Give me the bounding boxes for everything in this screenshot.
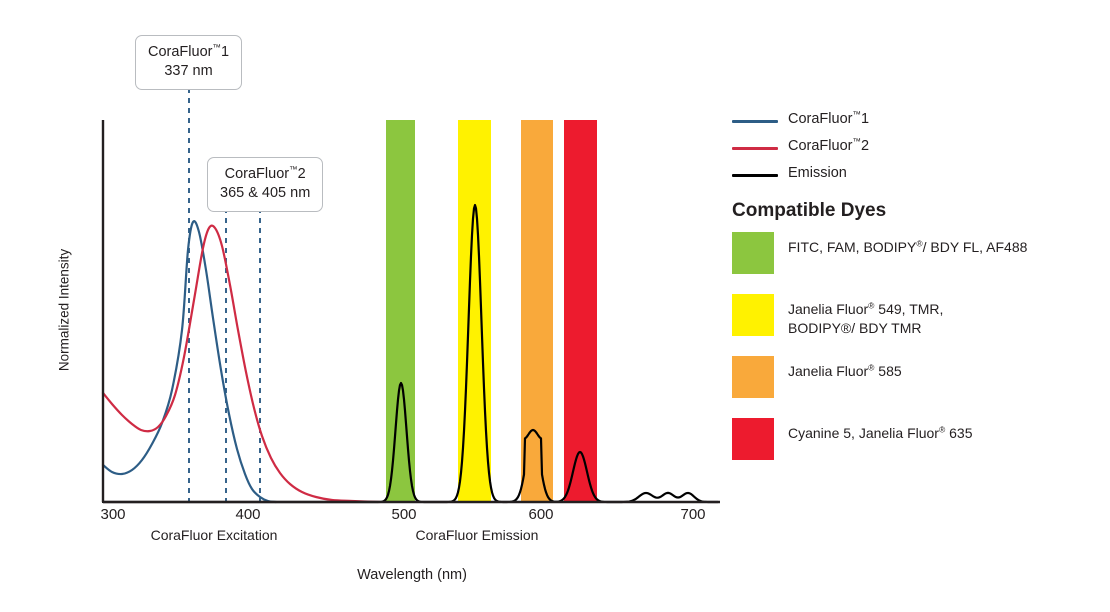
x-tick-400: 400: [235, 506, 260, 523]
series-legend: CoraFluor™1CoraFluor™2Emission: [730, 108, 1110, 189]
x-axis-title: Wavelength (nm): [357, 567, 467, 583]
legend-item-label: CoraFluor™1: [788, 111, 869, 127]
x-sublabel-0: CoraFluor Excitation: [151, 527, 278, 543]
dye-item-2: Janelia Fluor® 585: [730, 356, 1110, 418]
dye-item-3: Cyanine 5, Janelia Fluor® 635: [730, 418, 1110, 480]
dye-item-0: FITC, FAM, BODIPY®/ BDY FL, AF488: [730, 232, 1110, 294]
x-sublabel-1: CoraFluor Emission: [416, 527, 539, 543]
dye-item-label: Janelia Fluor® 585: [788, 362, 1103, 381]
compatible-dyes-list: FITC, FAM, BODIPY®/ BDY FL, AF488Janelia…: [730, 232, 1110, 480]
callout-corafluor1: CoraFluor™1 337 nm: [135, 35, 242, 90]
emission-filter-bands: [386, 120, 597, 502]
legend-line-icon: [732, 147, 778, 150]
dye-item-label: Cyanine 5, Janelia Fluor® 635: [788, 424, 1103, 443]
callout-2-line2: 365 & 405 nm: [220, 185, 310, 201]
legend-item-2[interactable]: Emission: [730, 162, 1110, 189]
dye-item-label: Janelia Fluor® 549, TMR,BODIPY®/ BDY TMR: [788, 300, 1103, 339]
dye-color-swatch: [732, 356, 774, 398]
callout-1-line1: CoraFluor™1: [148, 44, 229, 60]
excitation-marker-lines: [189, 88, 260, 502]
dye-item-label: FITC, FAM, BODIPY®/ BDY FL, AF488: [788, 238, 1103, 257]
x-tick-500: 500: [391, 506, 416, 523]
callout-corafluor2: CoraFluor™2 365 & 405 nm: [207, 157, 323, 212]
figure-root: CoraFluor™1 337 nm CoraFluor™2 365 & 405…: [0, 0, 1110, 612]
dye-color-swatch: [732, 294, 774, 336]
legend-item-0[interactable]: CoraFluor™1: [730, 108, 1110, 135]
x-tick-700: 700: [680, 506, 705, 523]
legend-item-1[interactable]: CoraFluor™2: [730, 135, 1110, 162]
x-tick-600: 600: [528, 506, 553, 523]
chart-plot-area: CoraFluor™1 337 nm CoraFluor™2 365 & 405…: [0, 0, 730, 612]
legend-item-label: Emission: [788, 165, 847, 181]
x-tick-300: 300: [100, 506, 125, 523]
side-panel: CoraFluor™1CoraFluor™2Emission Compatibl…: [730, 0, 1110, 612]
emission-band-3: [564, 120, 597, 502]
y-axis-title: Normalized Intensity: [57, 249, 72, 371]
callout-1-line2: 337 nm: [164, 63, 212, 79]
legend-item-label: CoraFluor™2: [788, 138, 869, 154]
compatible-dyes-title: Compatible Dyes: [732, 200, 886, 222]
callout-2-line1: CoraFluor™2: [225, 166, 306, 182]
legend-line-icon: [732, 174, 778, 177]
dye-item-1: Janelia Fluor® 549, TMR,BODIPY®/ BDY TMR: [730, 294, 1110, 356]
emission-band-0: [386, 120, 415, 502]
dye-color-swatch: [732, 418, 774, 460]
legend-line-icon: [732, 120, 778, 123]
dye-color-swatch: [732, 232, 774, 274]
